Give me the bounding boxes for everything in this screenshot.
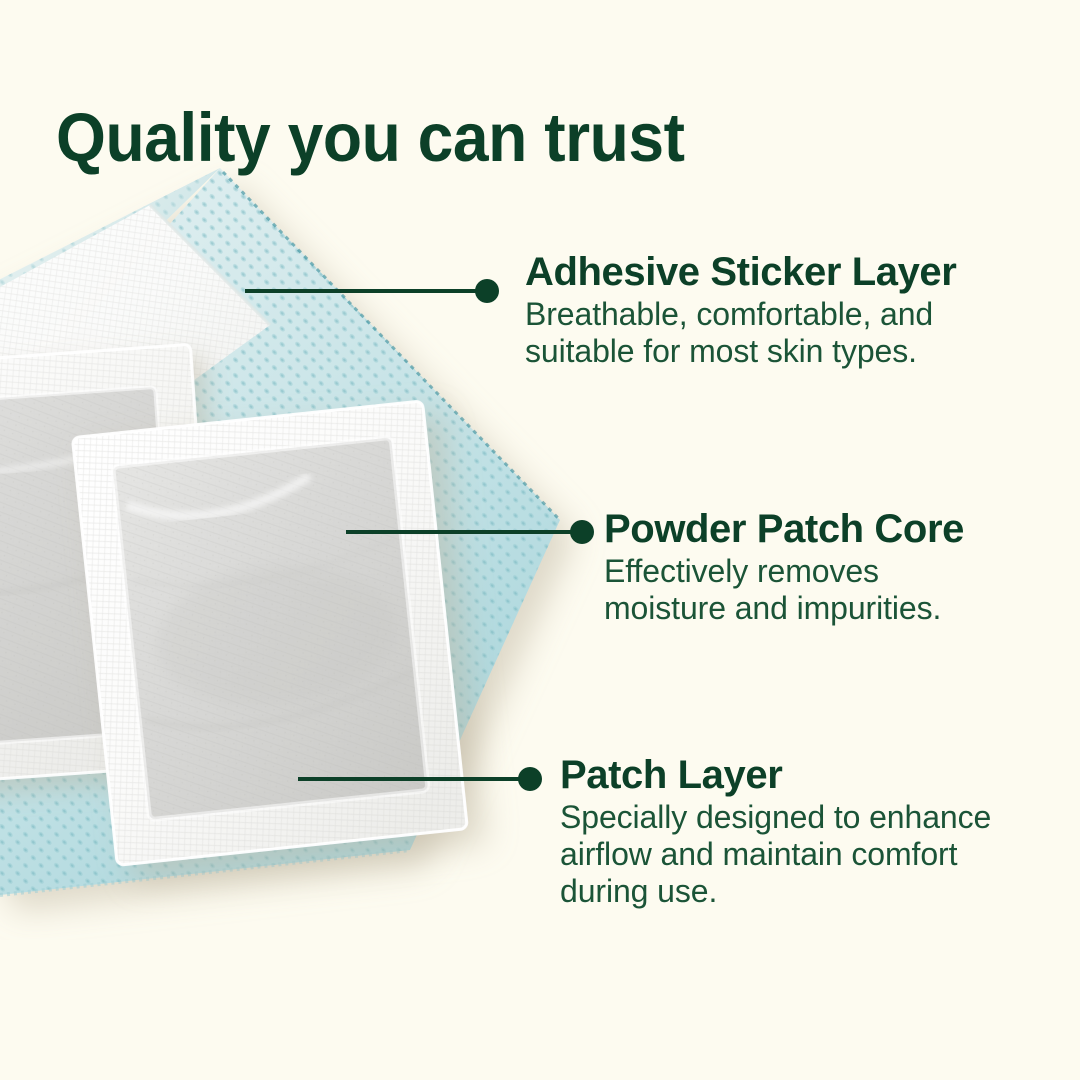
callout-body: Effectively removes moisture and impurit… <box>604 553 964 627</box>
callout-powder-patch-core: Powder Patch Core Effectively removes mo… <box>604 507 964 627</box>
callout-adhesive-sticker-layer: Adhesive Sticker Layer Breathable, comfo… <box>525 250 956 370</box>
page-title: Quality you can trust <box>56 100 684 176</box>
infographic-canvas: Quality you can trust Adhesive Sticker L… <box>0 0 1080 1080</box>
callout-heading: Patch Layer <box>560 753 991 797</box>
powder-pouch-front <box>113 437 429 819</box>
white-patch-front <box>72 401 467 865</box>
callout-patch-layer: Patch Layer Specially designed to enhanc… <box>560 753 991 910</box>
callout-heading: Powder Patch Core <box>604 507 964 551</box>
callout-heading: Adhesive Sticker Layer <box>525 250 956 294</box>
callout-body: Breathable, comfortable, and suitable fo… <box>525 296 956 370</box>
callout-body: Specially designed to enhance airflow an… <box>560 799 991 910</box>
